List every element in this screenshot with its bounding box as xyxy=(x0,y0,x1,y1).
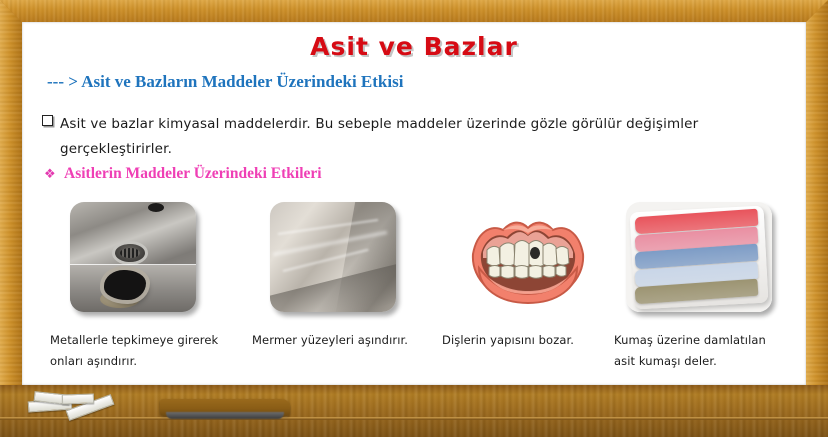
figure-corroded-metal-sink xyxy=(70,202,196,312)
page-title: Asit ve Bazlar xyxy=(22,32,806,61)
cavity-spot xyxy=(530,247,540,259)
figure-eroded-marble-surface xyxy=(270,202,396,312)
figure-row xyxy=(22,202,806,322)
figure-stacked-fabric-towels xyxy=(626,202,772,312)
mouth-teeth-icon xyxy=(465,202,591,312)
blackboard-eraser-felt xyxy=(166,412,284,419)
figure-caption: Mermer yüzeyleri aşındırır. xyxy=(252,330,437,351)
figure-teeth-with-cavity xyxy=(465,202,591,312)
slide-subtitle: --- > Asit ve Bazların Maddeler Üzerinde… xyxy=(47,72,403,92)
wooden-picture-frame: Asit ve Bazlar --- > Asit ve Bazların Ma… xyxy=(0,0,828,437)
chalk-piece xyxy=(62,393,94,404)
figure-caption: Dişlerin yapısını bozar. xyxy=(442,330,617,351)
frame-rail-left xyxy=(0,0,22,437)
figure-caption: Metallerle tepkimeye girerek onları aşın… xyxy=(50,330,235,372)
figure-caption: Kumaş üzerine damlatılan asit kumaşı del… xyxy=(614,330,789,372)
bullet-paragraph-row: Asit ve bazlar kimyasal maddelerdir. Bu … xyxy=(42,112,762,162)
slide-board: Asit ve Bazlar --- > Asit ve Bazların Ma… xyxy=(22,22,806,385)
square-bullet-icon xyxy=(42,115,60,126)
body-paragraph: Asit ve bazlar kimyasal maddelerdir. Bu … xyxy=(60,112,762,162)
frame-rail-right xyxy=(806,0,828,437)
frame-rail-top xyxy=(0,0,828,22)
corrosion-hole xyxy=(104,270,146,300)
tray-shelf-line xyxy=(0,417,828,420)
section-heading-row: ❖ Asitlerin Maddeler Üzerindeki Etkileri xyxy=(44,165,322,183)
sink-drain-icon xyxy=(115,244,145,262)
frame-rail-bottom-chalk-tray xyxy=(0,385,828,437)
section-heading: Asitlerin Maddeler Üzerindeki Etkileri xyxy=(64,165,322,183)
diamond-bullet-icon: ❖ xyxy=(44,168,64,181)
